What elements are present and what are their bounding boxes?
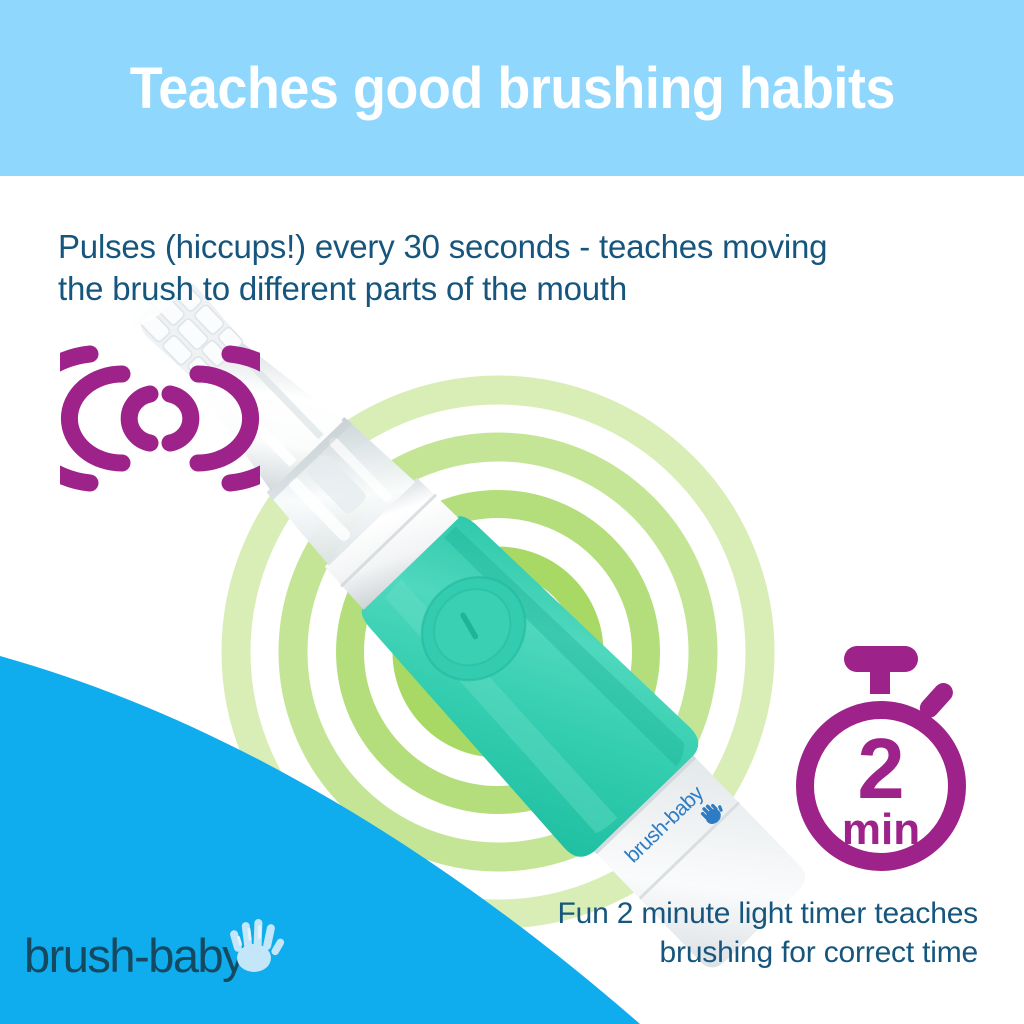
sound-wave-pulse-icon xyxy=(60,336,260,501)
timer-feature-caption: Fun 2 minute light timer teaches brushin… xyxy=(458,894,978,972)
header-banner: Teaches good brushing habits xyxy=(0,0,1024,176)
timer-value-text: 2 xyxy=(857,722,904,817)
pulse-caption-line-1: Pulses (hiccups!) every 30 seconds - tea… xyxy=(58,226,848,268)
infographic-body: brush-baby xyxy=(0,176,1024,1024)
page-title: Teaches good brushing habits xyxy=(129,60,894,118)
brand-logo: brush-baby xyxy=(24,916,294,996)
baby-handprint-icon xyxy=(224,916,288,976)
pulse-caption-line-2: the brush to different parts of the mout… xyxy=(58,268,848,310)
pulse-feature-caption: Pulses (hiccups!) every 30 seconds - tea… xyxy=(58,226,848,310)
timer-caption-line-2: brushing for correct time xyxy=(458,933,978,972)
timer-unit-text: min xyxy=(842,805,920,854)
product-infographic: Teaches good brushing habits xyxy=(0,0,1024,1024)
timer-caption-line-1: Fun 2 minute light timer teaches xyxy=(458,894,978,933)
vibration-rings xyxy=(218,372,778,932)
brand-wordmark: brush-baby xyxy=(24,932,244,979)
stopwatch-icon: 2 min 2 min xyxy=(786,646,982,876)
